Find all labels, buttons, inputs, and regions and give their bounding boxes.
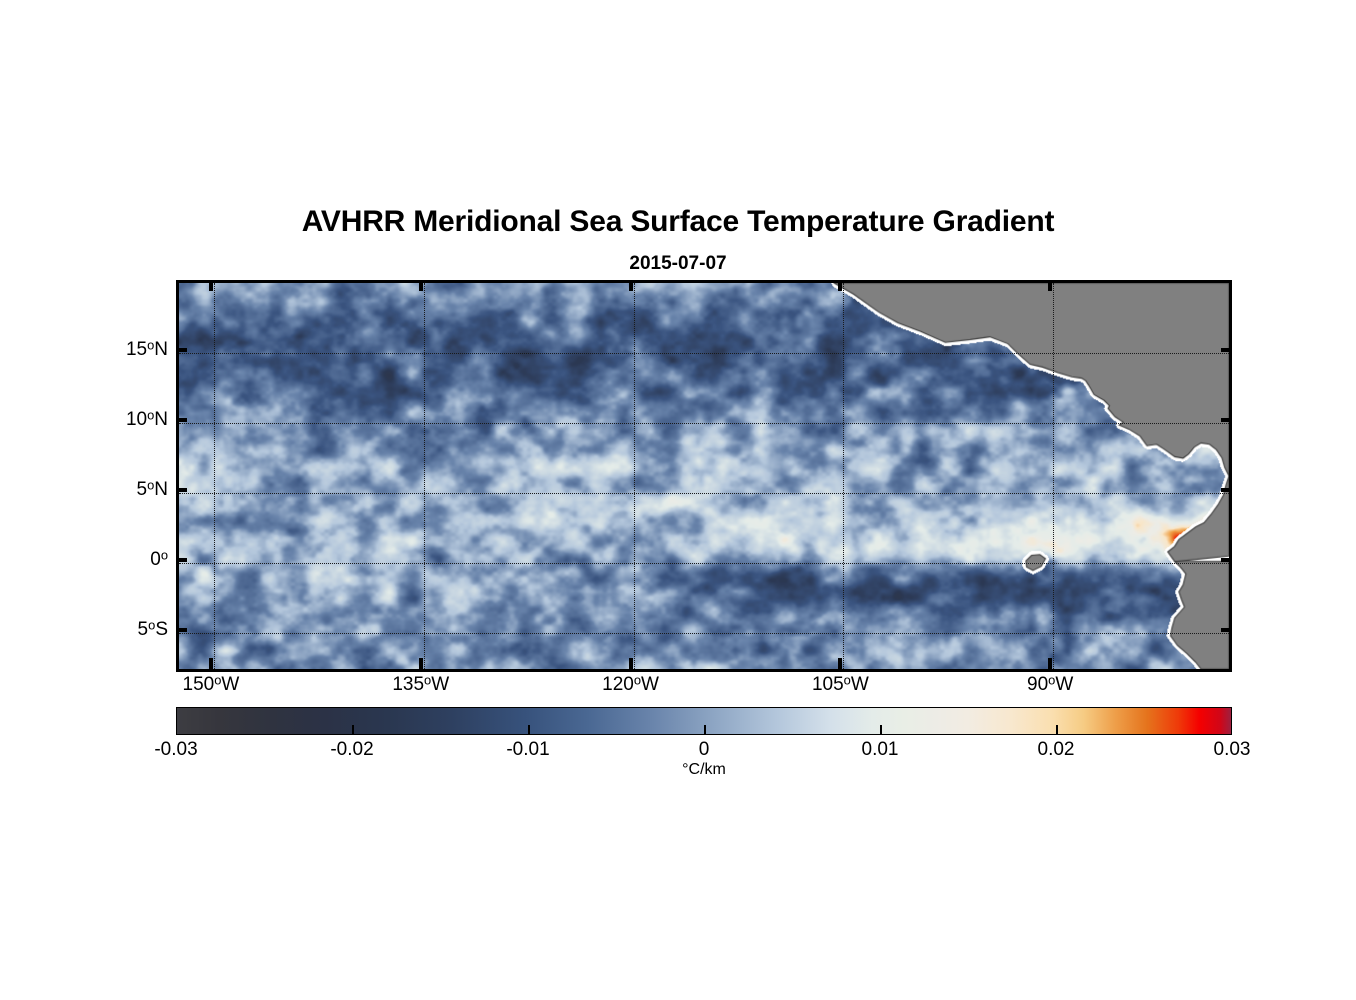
ytick-label-0°: 0o (150, 549, 168, 571)
ytick-label-5°S: 5oS (138, 619, 168, 641)
ytick-5°S-left (176, 628, 187, 632)
xtick-label-135°W: 135oW (392, 674, 449, 696)
colorbar-tick--0.01 (528, 725, 530, 735)
colorbar-label--0.03: -0.03 (154, 739, 197, 761)
ytick-10°N-left (176, 418, 187, 422)
map-axes (176, 280, 1232, 672)
ytick-5°S-right (1221, 628, 1232, 632)
colorbar-label--0.02: -0.02 (330, 739, 373, 761)
colorbar-unit-label: °C/km (682, 761, 726, 779)
colorbar-label-0.01: 0.01 (862, 739, 899, 761)
xtick-120°W-top (629, 280, 633, 291)
ytick-15°N-left (176, 348, 187, 352)
ytick-5°N-right (1221, 488, 1232, 492)
xtick-label-105°W: 105oW (812, 674, 869, 696)
ytick-label-10°N: 10oN (126, 409, 168, 431)
xtick-90°W-bottom (1048, 658, 1052, 669)
ytick-15°N-right (1221, 348, 1232, 352)
colorbar-label-0.03: 0.03 (1214, 739, 1251, 761)
figure-subtitle: 2015-07-07 (0, 253, 1356, 275)
ytick-label-5°N: 5oN (137, 479, 169, 501)
ytick-10°N-right (1221, 418, 1232, 422)
xtick-150°W-top (209, 280, 213, 291)
ytick-0°-left (176, 558, 187, 562)
colorbar-tick-0.01 (880, 725, 882, 735)
xtick-105°W-bottom (838, 658, 842, 669)
xtick-label-120°W: 120oW (602, 674, 659, 696)
colorbar-label-0.02: 0.02 (1038, 739, 1075, 761)
colorbar-tick-0.02 (1056, 725, 1058, 735)
xtick-90°W-top (1048, 280, 1052, 291)
ytick-0°-right (1221, 558, 1232, 562)
sst-gradient-heatmap (179, 283, 1229, 669)
page-title: AVHRR Meridional Sea Surface Temperature… (0, 205, 1356, 239)
xtick-120°W-bottom (629, 658, 633, 669)
ytick-label-15°N: 15oN (126, 339, 168, 361)
xtick-135°W-bottom (419, 658, 423, 669)
xtick-105°W-top (838, 280, 842, 291)
ytick-5°N-left (176, 488, 187, 492)
colorbar-tick--0.02 (352, 725, 354, 735)
xtick-label-150°W: 150oW (183, 674, 240, 696)
figure-canvas: AVHRR Meridional Sea Surface Temperature… (0, 0, 1356, 1000)
xtick-150°W-bottom (209, 658, 213, 669)
xtick-135°W-top (419, 280, 423, 291)
colorbar-label-0: 0 (699, 739, 710, 761)
colorbar-tick-0 (704, 725, 706, 735)
xtick-label-90°W: 90oW (1027, 674, 1073, 696)
colorbar-label--0.01: -0.01 (506, 739, 549, 761)
